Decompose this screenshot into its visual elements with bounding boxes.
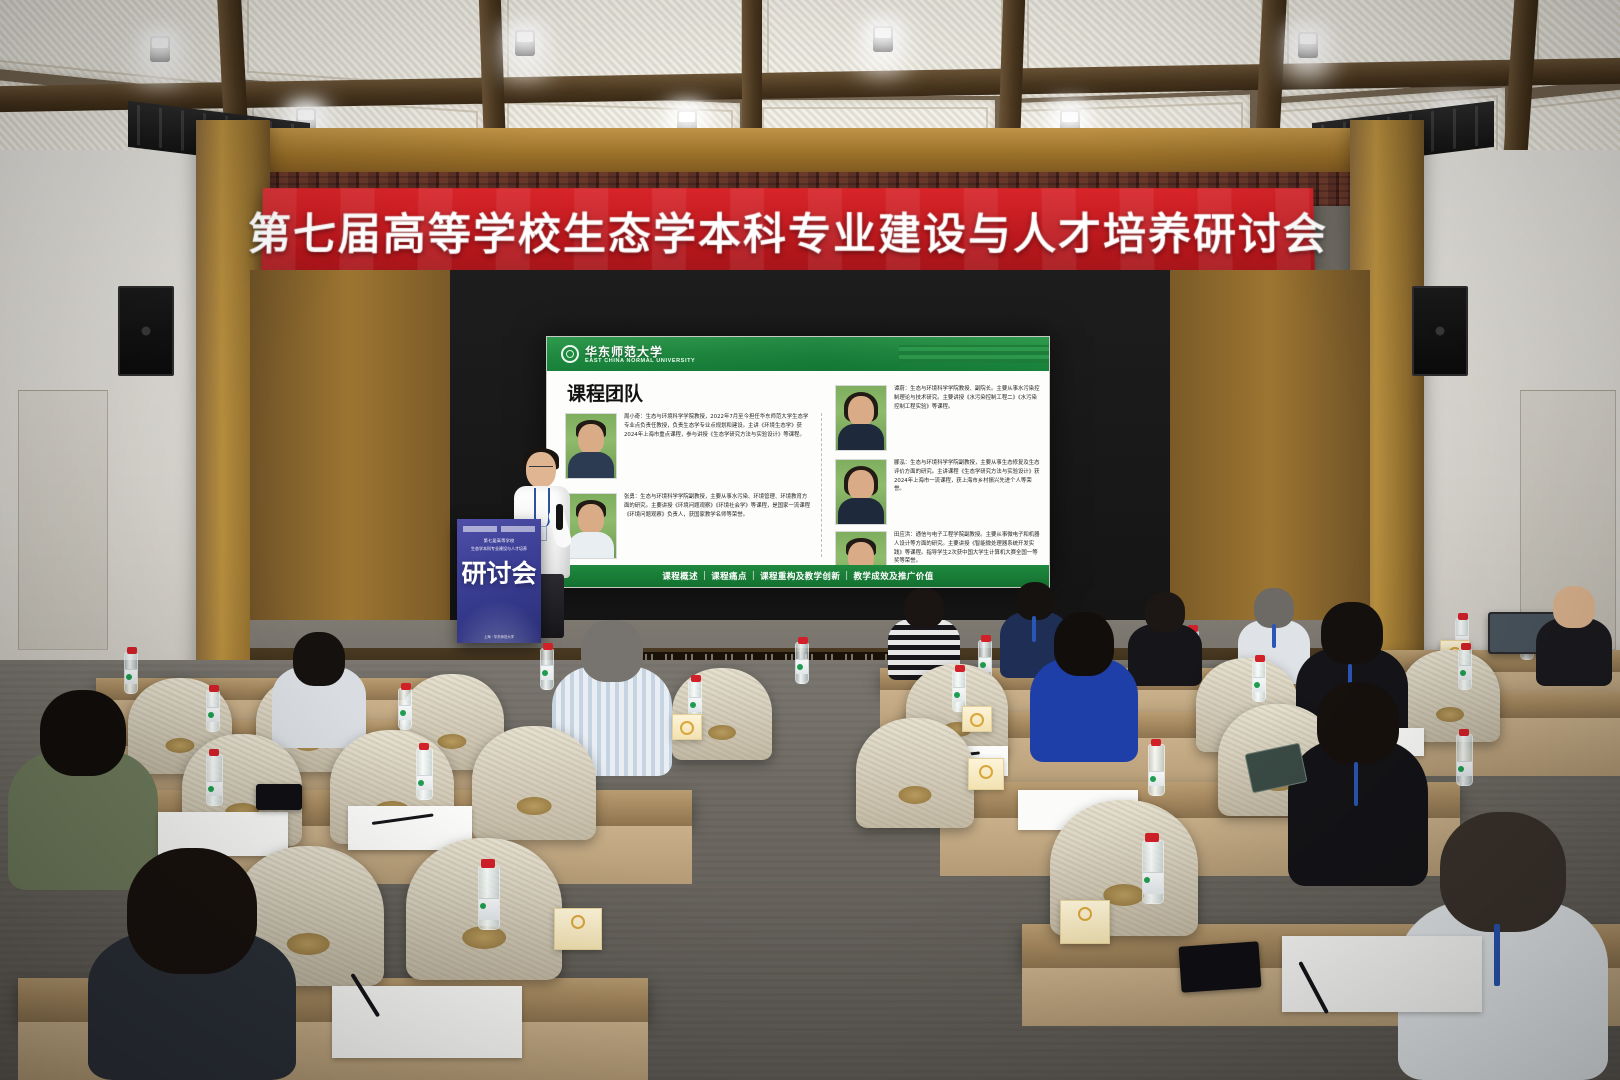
tissue-box: [968, 758, 1004, 790]
podium-main-text: 研讨会: [457, 559, 541, 590]
note-paper: [1282, 936, 1482, 1012]
ceiling-spotlight: [150, 36, 170, 62]
conference-banner: 第七届高等学校生态学本科专业建设与人才培养研讨会: [261, 188, 1315, 273]
slide-nav-item-1[interactable]: 课程痛点: [711, 570, 747, 582]
water-bottle[interactable]: [416, 748, 433, 800]
tissue-box: [672, 714, 702, 740]
bio-entry: 张勇：生态与环境科学学院副教授，主要从事水污染、环境管理、环境教育方面的研究。主…: [565, 493, 811, 559]
ceiling-spotlight: [873, 26, 893, 52]
university-name-en: EAST CHINA NORMAL UNIVERSITY: [585, 358, 695, 364]
podium-footer: 上海 · 华东师范大学: [457, 634, 541, 639]
slide-nav-item-0[interactable]: 课程概述: [662, 570, 698, 582]
slide-nav-item-2[interactable]: 课程重构及教学创新: [760, 570, 840, 582]
note-paper: [332, 986, 522, 1058]
conference-chair[interactable]: [856, 718, 974, 828]
lanyard-icon: [1354, 762, 1358, 806]
lanyard-icon: [1494, 924, 1500, 986]
bio-entry: 谭蔚：生态与环境科学学院教授、副院长。主要从事水污染控制理论与技术研究。主要讲授…: [835, 385, 1041, 451]
slide-nav-item-3[interactable]: 教学成效及推广价值: [854, 570, 934, 582]
tissue-box: [1060, 900, 1110, 944]
projection-screen: 华东师范大学 EAST CHINA NORMAL UNIVERSITY 课程团队…: [546, 336, 1050, 588]
podium-logos: [463, 525, 535, 533]
water-bottle[interactable]: [1456, 734, 1473, 786]
slide-column-divider: [821, 413, 822, 557]
conference-photo: 第七届高等学校生态学本科专业建设与人才培养研讨会 00 00 0000 华东师范…: [0, 0, 1620, 1080]
wall-speaker-right: [1412, 286, 1468, 376]
attendee: [1128, 592, 1202, 686]
attendee: [88, 848, 296, 1080]
water-bottle[interactable]: [1142, 840, 1164, 904]
stage-wood-left: [250, 270, 450, 640]
wall-panel: [18, 390, 108, 650]
bio-text: 张勇：生态与环境科学学院副教授，主要从事水污染、环境管理、环境教育方面的研究。主…: [624, 493, 811, 559]
ceiling-spotlight: [515, 30, 535, 56]
lanyard-icon: [1272, 624, 1276, 648]
wall-speaker-left: [118, 286, 174, 376]
slide-nav-separator: |: [703, 571, 706, 581]
bio-text: 郦泓：生态与环境科学学院副教授，主要从事生态修复及生态评价方面的研究。主讲课程《…: [894, 459, 1041, 525]
smartphone[interactable]: [1178, 941, 1261, 992]
ceiling-spotlight: [1298, 32, 1318, 58]
slide-header-band: 华东师范大学 EAST CHINA NORMAL UNIVERSITY: [547, 337, 1049, 371]
podium-line-1: 第七届高等学校: [462, 538, 536, 544]
water-bottle[interactable]: [206, 690, 220, 732]
slide-body: 课程团队 周小奇：生态与环境科学学院教授，2022年7月至今担任华东师范大学生态…: [547, 371, 1049, 565]
bio-entry: 周小奇：生态与环境科学学院教授，2022年7月至今担任华东师范大学生态学专业点负…: [565, 413, 811, 479]
water-bottle[interactable]: [1252, 660, 1266, 702]
water-bottle[interactable]: [124, 652, 138, 694]
conference-chair[interactable]: [472, 726, 596, 840]
slide-nav-separator: |: [752, 571, 755, 581]
water-bottle[interactable]: [478, 866, 500, 930]
tissue-box: [554, 908, 602, 950]
smartphone[interactable]: [256, 784, 302, 810]
water-bottle[interactable]: [795, 642, 809, 684]
university-seal-icon: [561, 345, 579, 363]
microphone-icon: [556, 504, 563, 530]
attendee: [1030, 612, 1138, 762]
slide-nav-separator: |: [845, 571, 848, 581]
bio-entry: 郦泓：生态与环境科学学院副教授，主要从事生态修复及生态评价方面的研究。主讲课程《…: [835, 459, 1041, 525]
portrait-photo: [835, 385, 887, 451]
slide-title: 课程团队: [567, 379, 643, 406]
water-bottle[interactable]: [1148, 744, 1165, 796]
portrait-photo: [835, 459, 887, 525]
slide-section-nav: 课程概述 | 课程痛点 | 课程重构及教学创新 | 教学成效及推广价值: [547, 565, 1049, 587]
water-bottle[interactable]: [1458, 648, 1472, 690]
attendee: [1536, 586, 1612, 686]
podium-sign: 第七届高等学校 生态学本科专业建设与人才培养 研讨会 上海 · 华东师范大学: [457, 519, 541, 643]
banner-title: 第七届高等学校生态学本科专业建设与人才培养研讨会: [247, 200, 1328, 262]
podium-line-2: 生态学本科专业建设与人才培养: [460, 546, 538, 552]
tissue-box: [962, 706, 992, 732]
stage-wood-right: [1170, 270, 1370, 640]
glasses-icon: [529, 466, 553, 471]
water-bottle[interactable]: [398, 688, 412, 730]
attendee: [272, 632, 366, 748]
bio-text: 周小奇：生态与环境科学学院教授，2022年7月至今担任华东师范大学生态学专业点负…: [624, 413, 811, 479]
wood-lintel: [248, 128, 1372, 176]
water-bottle[interactable]: [206, 754, 223, 806]
bio-text: 谭蔚：生态与环境科学学院教授、副院长。主要从事水污染控制理论与技术研究。主要讲授…: [894, 385, 1041, 451]
